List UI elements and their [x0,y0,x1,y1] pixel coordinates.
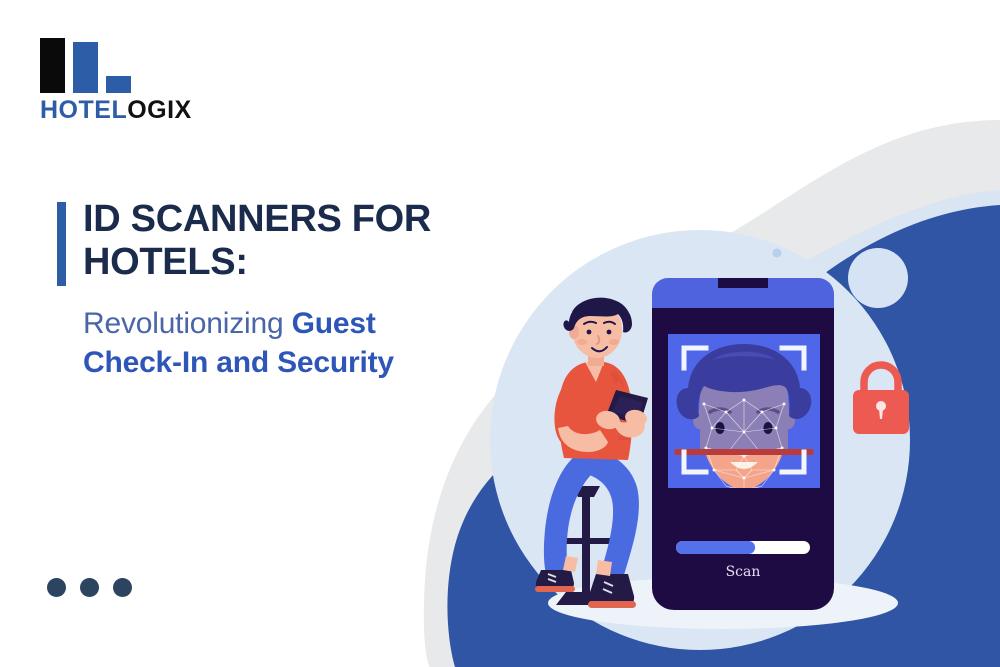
headline-line-1: ID SCANNERS FOR [83,198,431,240]
person-hand-left [594,409,621,432]
face-ear-left [693,411,705,429]
logo-bar-tall-black [40,38,65,93]
banner-root: Scan [0,0,1000,667]
hotelogix-logo[interactable]: HOTELOGIX [40,38,240,123]
person-hair-volume [572,298,630,324]
face-hair-highlight [712,352,776,360]
background-blob-gray [424,120,1000,667]
page-subtitle: Revolutionizing GuestCheck-In and Securi… [83,304,487,382]
person-eyebrow-right [604,322,615,324]
floor-ellipse [548,577,898,629]
logo-wordmark: HOTELOGIX [40,98,240,123]
person-nose [597,336,599,344]
person-shoe-back [536,570,574,592]
logo-bar-short-blue [106,76,131,93]
person-mouth [592,347,607,351]
face-shape-lower [700,400,789,492]
person-shoe-front-laces [603,582,613,593]
scan-caption-text: Scan [0,0,1,1]
decorative-dots [47,578,132,597]
decorative-dot [47,578,66,597]
face-eye-left [715,422,724,434]
person-eyebrow-left [584,322,596,324]
face-eye-right [763,422,772,434]
phone-top-bezel [652,278,834,300]
face-shape-upper [700,356,788,452]
lock-icon [853,365,909,434]
phone-scan-panel [668,334,820,488]
person-ankle-back [563,556,578,572]
person-shoe-back-sole [535,586,575,592]
person-handheld-phone-screen [612,396,643,418]
person-shoe-front-sole [588,601,636,608]
face-eyebrow-left [710,409,730,412]
person-hair [563,300,632,333]
person-handheld-phone [606,390,648,424]
subtitle-bold-part-1: Guest [292,307,376,340]
person-ankle-front [596,560,612,576]
person-shirt [559,362,632,460]
person-forearm-right [614,418,645,438]
seated-person-with-phone [535,298,648,608]
face-eyebrow-right [758,409,778,412]
decorative-dot [113,578,132,597]
person-shirt-shadow [610,370,630,440]
person-arm-left [554,382,576,447]
face-mouth [730,462,758,469]
accent-circle-light [848,248,908,308]
face-mesh-overlay [704,400,784,492]
person-ear [569,325,579,339]
logo-bar-tall-blue [73,42,98,93]
person-shoe-front [589,574,634,608]
stool [556,486,616,605]
logo-word-primary: HOTEL [40,96,127,124]
subtitle-bold-part-2: Check-In and Security [83,346,394,379]
person-hand-right [624,408,649,428]
background-blob-light-blue [492,190,1000,667]
background-blob-dark-blue [447,205,1000,667]
logo-word-secondary: OGIX [127,96,192,124]
person-leg-front [576,448,639,575]
page-title: ID SCANNERS FORHOTELS: [83,198,487,284]
phone-bezel-band [652,298,834,308]
face-hair [677,344,812,419]
person-forearm-left [558,426,608,452]
person-blush-left [577,339,587,345]
headline-accent-bar [57,202,66,286]
scan-line [674,449,814,455]
scan-progress-track [676,541,810,554]
headline-line-2: HOTELS: [83,241,248,283]
subtitle-light-part: Revolutionizing [83,307,292,340]
face-ear-right [783,411,795,429]
background-circle-pale [490,230,910,650]
phone-body [652,278,834,610]
headline-block: ID SCANNERS FORHOTELS: Revolutionizing G… [57,198,487,382]
person-leg-back [544,455,598,574]
person-eye-left [587,330,592,335]
person-shirt-collar [585,362,604,382]
accent-dot-small [773,249,782,258]
scan-progress-fill [676,541,755,554]
person-eye-right [607,330,612,335]
person-head [572,302,622,358]
scan-frame-brackets [684,348,804,472]
face-mesh-nodes [703,399,786,494]
logo-mark [40,38,145,93]
person-neck [588,348,604,366]
person-blush-right [609,339,619,345]
scan-caption: Scan [726,564,761,580]
decorative-dot [80,578,99,597]
person-arm-right [612,380,631,436]
person-shoe-back-laces [548,574,556,582]
